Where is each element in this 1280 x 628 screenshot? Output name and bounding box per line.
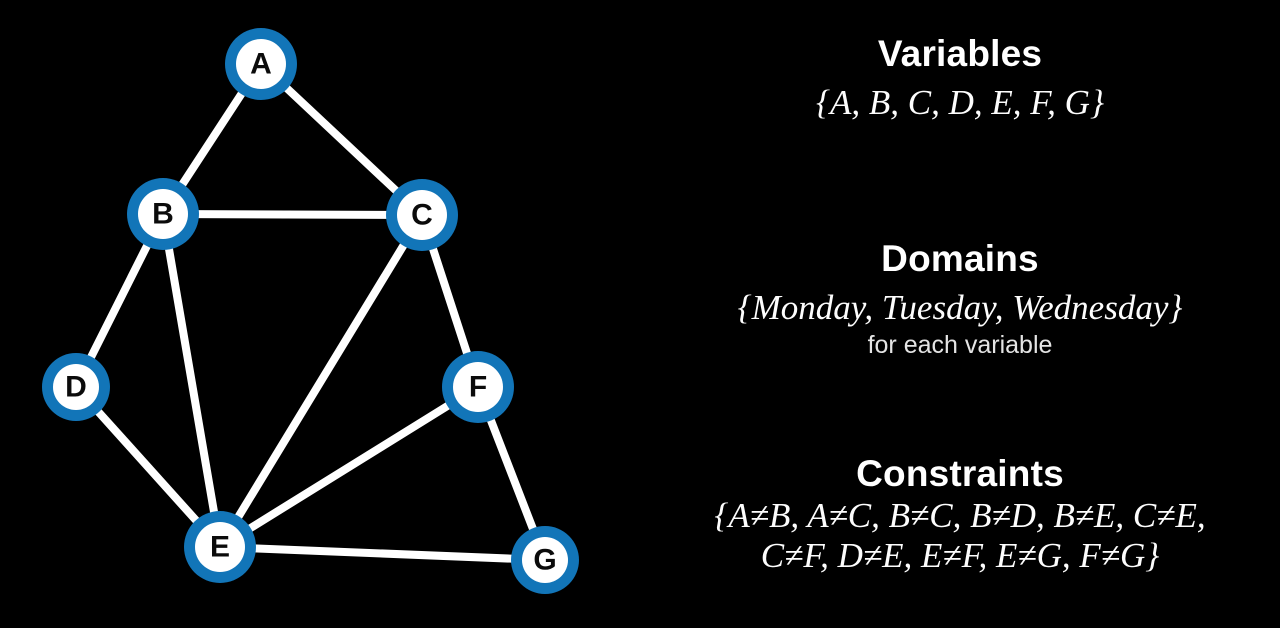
node-label-c: C [411,199,433,232]
graph-edge-e-g [220,547,545,560]
domains-set: {Monday, Tuesday, Wednesday} [640,287,1280,329]
csp-definition-panel: Variables {A, B, C, D, E, F, G} Domains … [640,0,1280,628]
graph-edge-b-c [163,214,422,215]
domains-heading: Domains [640,237,1280,281]
graph-node-a[interactable]: A [225,28,297,100]
constraints-heading: Constraints [640,452,1280,496]
node-label-e: E [210,531,230,564]
domains-note: for each variable [640,329,1280,361]
node-label-f: F [469,371,487,404]
graph-edge-c-e [220,215,422,547]
node-label-a: A [250,48,272,81]
edge-layer [76,64,545,560]
constraints-section: Constraints {A≠B, A≠C, B≠C, B≠D, B≠E, C≠… [640,452,1280,576]
graph-node-c[interactable]: C [386,179,458,251]
graph-node-b[interactable]: B [127,178,199,250]
constraints-set-line-2: C≠F, D≠E, E≠F, E≠G, F≠G} [640,536,1280,576]
variables-heading: Variables [640,32,1280,76]
variables-section: Variables {A, B, C, D, E, F, G} [640,32,1280,124]
node-label-g: G [533,544,556,577]
variables-set: {A, B, C, D, E, F, G} [640,82,1280,124]
graph-edge-e-f [220,387,478,547]
graph-node-f[interactable]: F [442,351,514,423]
constraints-set-line-1: {A≠B, A≠C, B≠C, B≠D, B≠E, C≠E, [640,496,1280,536]
constraint-graph-svg: ABCDEFG [0,0,640,628]
constraint-graph-panel: ABCDEFG [0,0,640,628]
node-label-b: B [152,198,174,231]
graph-node-e[interactable]: E [184,511,256,583]
graph-node-d[interactable]: D [42,353,110,421]
slide-canvas: ABCDEFG Variables {A, B, C, D, E, F, G} … [0,0,1280,628]
node-label-d: D [65,371,87,404]
domains-section: Domains {Monday, Tuesday, Wednesday} for… [640,237,1280,361]
graph-node-g[interactable]: G [511,526,579,594]
